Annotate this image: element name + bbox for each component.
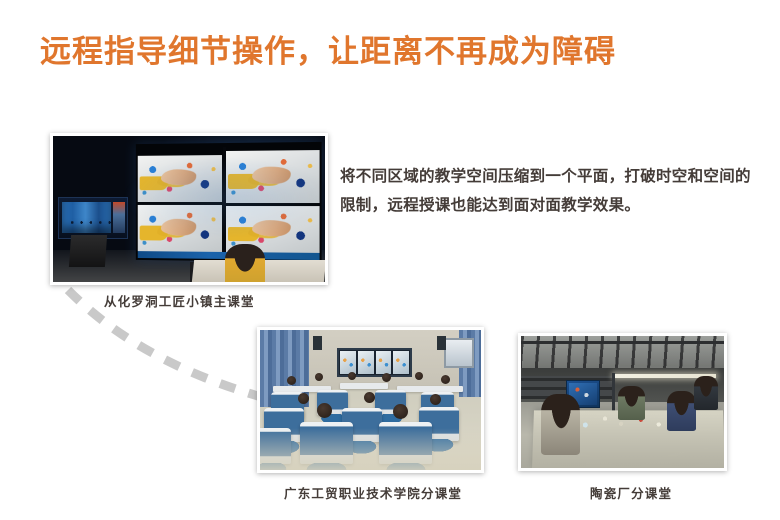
slide-canvas: 远程指导细节操作，让距离不再成为障碍 将不同区域的教学空间压缩到一个平面，打破时… bbox=[0, 0, 780, 520]
photo-main-classroom-image bbox=[53, 136, 325, 282]
worker-figure bbox=[667, 391, 695, 431]
window bbox=[444, 338, 475, 367]
worker-figure bbox=[541, 394, 580, 455]
photo-school-branch bbox=[257, 327, 484, 473]
body-paragraph: 将不同区域的教学空间压缩到一个平面，打破时空和空间的限制，远程授课也能达到面对面… bbox=[340, 163, 752, 220]
caption-school-branch: 广东工贸职业技术学院分课堂 bbox=[284, 483, 462, 502]
photo-factory-branch bbox=[518, 333, 727, 471]
photo-factory-branch-image bbox=[521, 336, 724, 468]
worker-figure bbox=[694, 376, 718, 410]
page-title: 远程指导细节操作，让距离不再成为障碍 bbox=[40, 32, 616, 72]
photo-school-branch-image bbox=[260, 330, 481, 470]
worker-figure bbox=[618, 386, 644, 420]
caption-main-classroom: 从化罗洞工匠小镇主课堂 bbox=[104, 291, 255, 310]
caption-factory-branch: 陶瓷厂分课堂 bbox=[590, 483, 672, 502]
photo-main-classroom bbox=[50, 133, 328, 285]
